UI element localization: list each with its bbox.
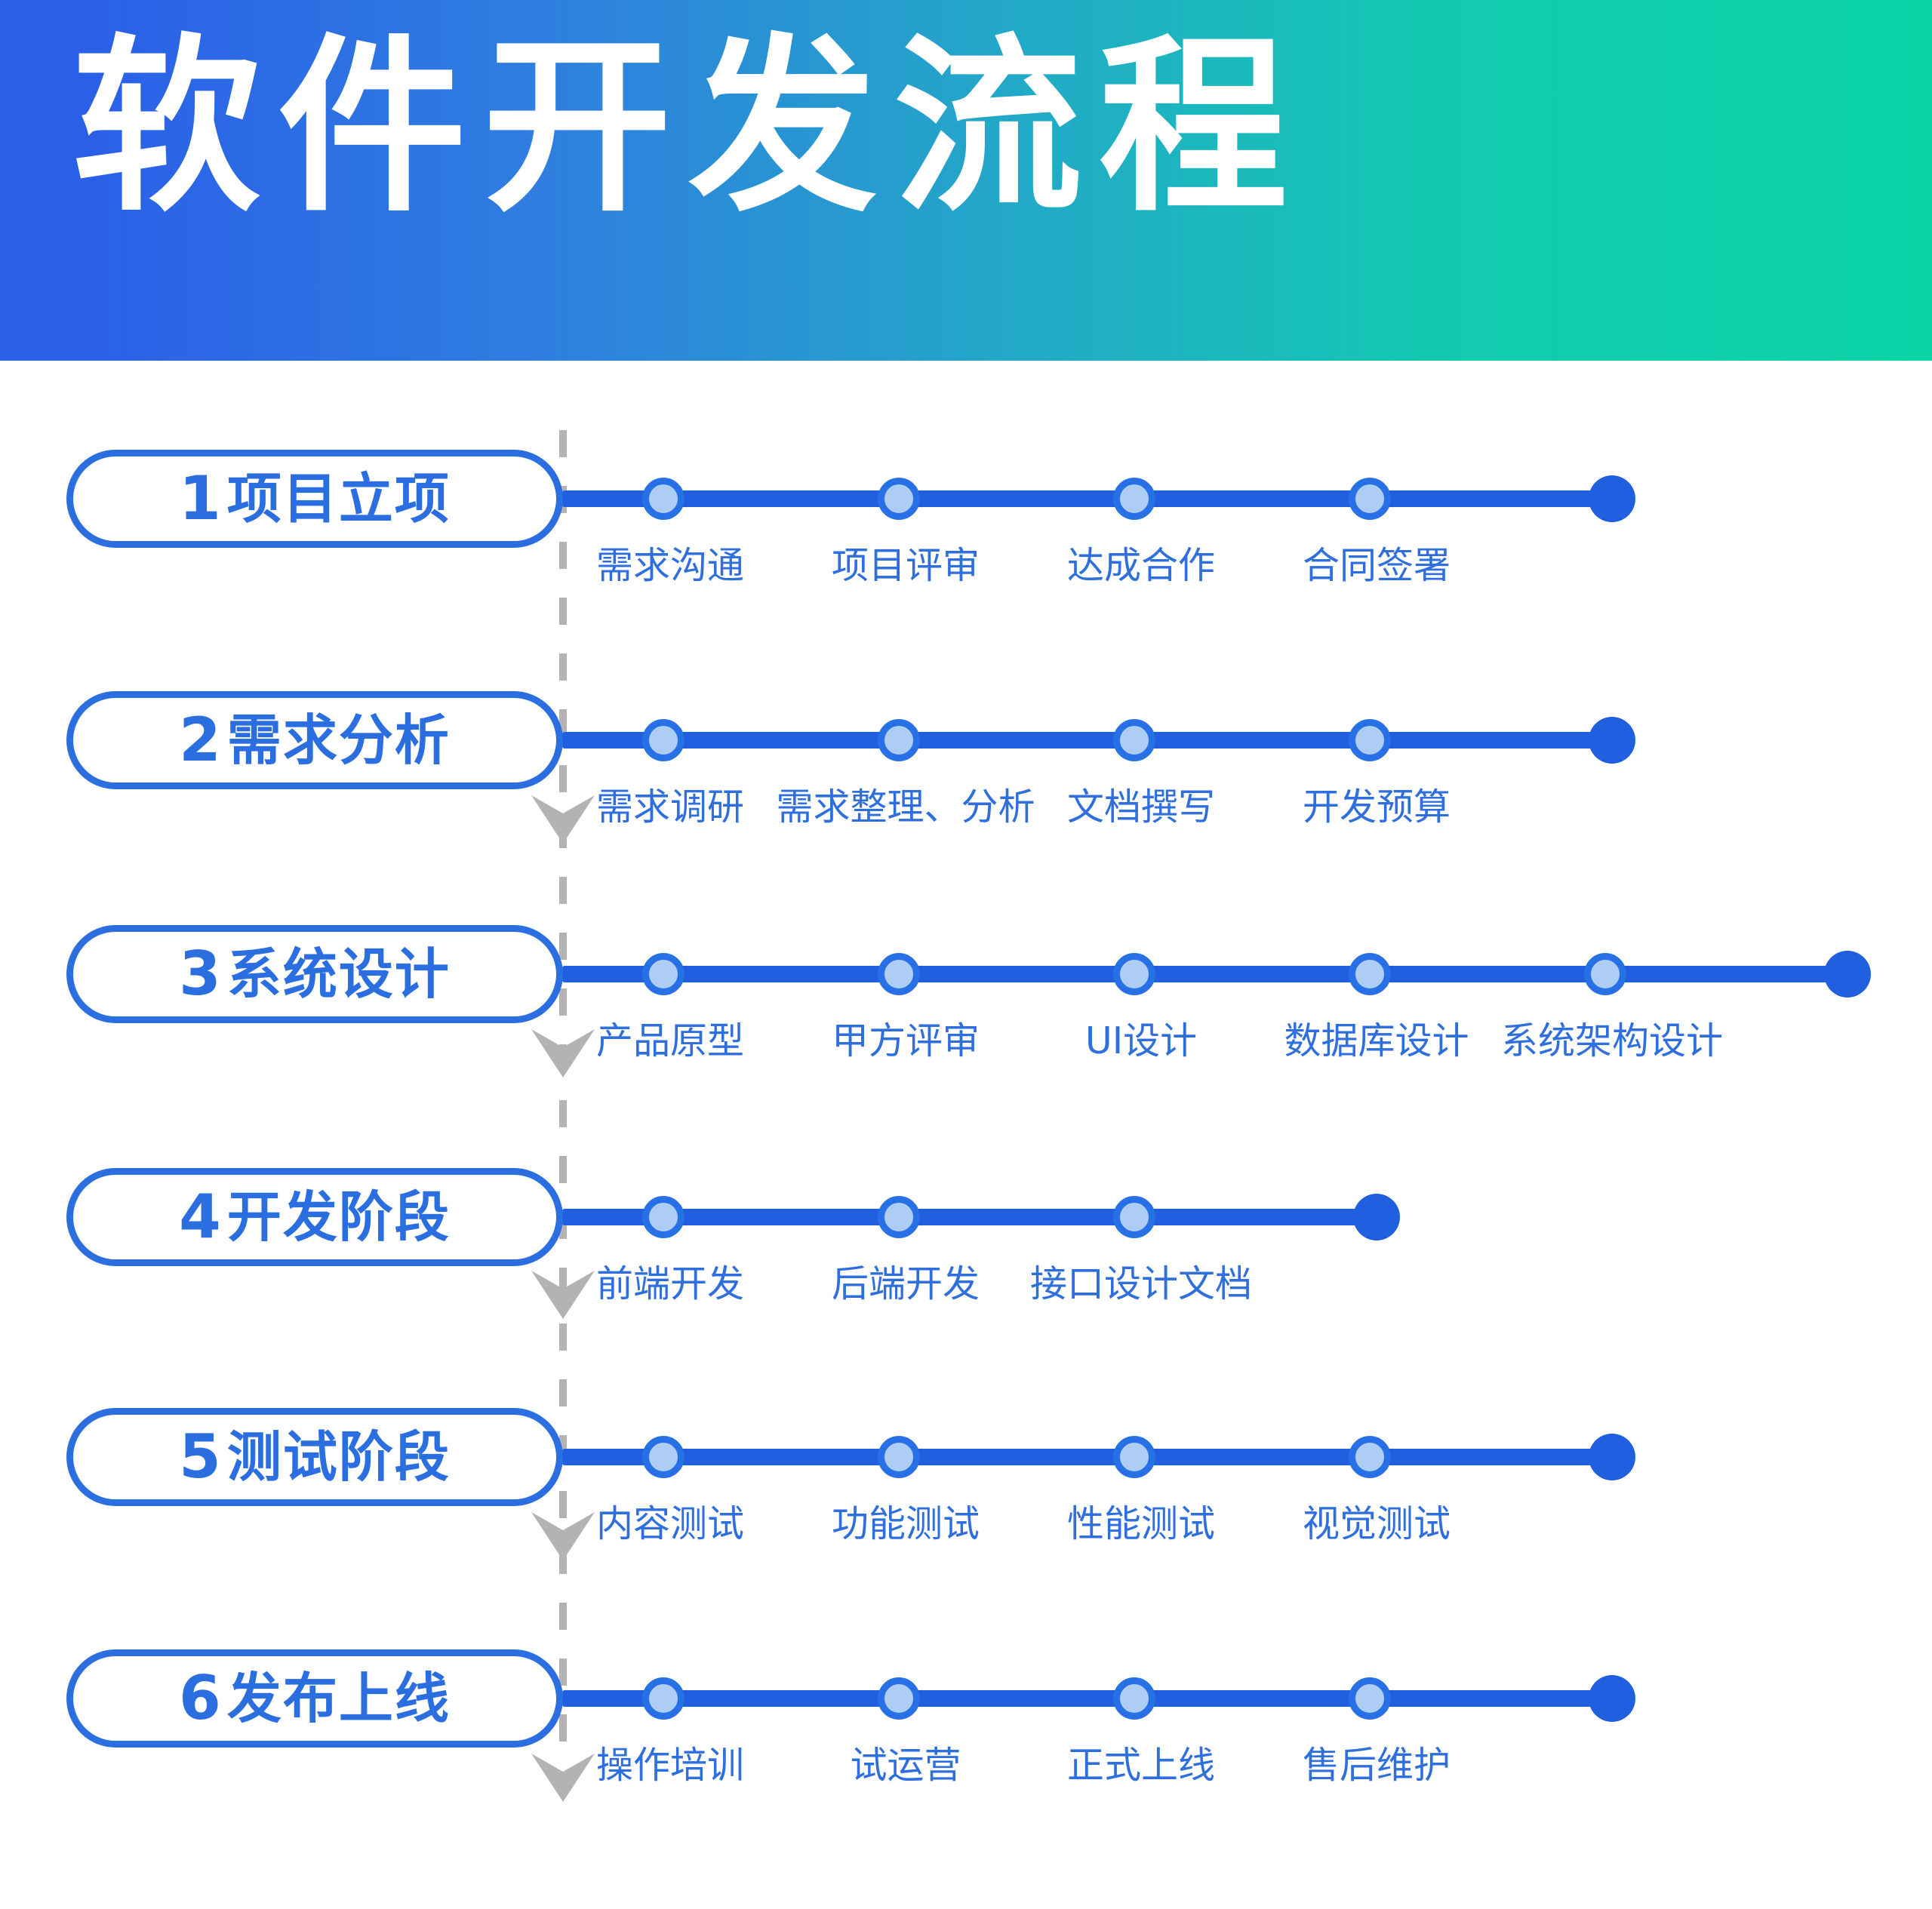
step-node[interactable] <box>878 1196 920 1238</box>
stage-pill-4[interactable]: 4开发阶段 <box>66 1168 563 1266</box>
stage-label: 系统设计 <box>227 947 451 1001</box>
step-label: 视觉测试 <box>1303 1494 1451 1548</box>
step-node[interactable] <box>642 1677 685 1720</box>
step-node[interactable] <box>1349 1677 1391 1720</box>
step-node[interactable] <box>1113 953 1155 995</box>
step-label: 产品原型 <box>596 1011 744 1065</box>
stage-number: 6 <box>179 1668 221 1729</box>
stage-pill-1[interactable]: 1项目立项 <box>66 450 563 548</box>
step-label: 项目评审 <box>832 536 980 589</box>
step-node[interactable] <box>1349 478 1391 520</box>
step-label: 文档撰写 <box>1067 777 1215 831</box>
stage-pill-6[interactable]: 6发布上线 <box>66 1649 563 1748</box>
stage-row: 6发布上线操作培训试运营正式上线售后维护 <box>0 1630 1932 1781</box>
step-label: 需求整理、分析 <box>776 777 1035 831</box>
stage-label: 项目立项 <box>227 472 451 526</box>
step-node[interactable] <box>1113 1677 1155 1720</box>
step-node[interactable] <box>1113 1196 1155 1238</box>
step-node[interactable] <box>1349 719 1391 761</box>
stage-row: 2需求分析需求调研需求整理、分析文档撰写开发预算 <box>0 672 1932 822</box>
step-label: 后端开发 <box>832 1254 980 1308</box>
stage-label: 开发阶段 <box>227 1190 451 1244</box>
stage-label: 测试阶段 <box>227 1430 451 1484</box>
flow-diagram: 1项目立项需求沟通项目评审达成合作合同签署2需求分析需求调研需求整理、分析文档撰… <box>0 361 1932 1909</box>
step-node[interactable] <box>878 1677 920 1720</box>
step-label: 需求沟通 <box>596 536 744 589</box>
stage-row: 1项目立项需求沟通项目评审达成合作合同签署 <box>0 430 1932 581</box>
step-label: 数据库设计 <box>1284 1011 1469 1065</box>
header-banner: 软件开发流程 <box>0 0 1932 361</box>
step-label: 前端开发 <box>596 1254 744 1308</box>
step-node[interactable] <box>1584 953 1626 995</box>
step-node[interactable] <box>1113 478 1155 520</box>
stage-track <box>562 732 1612 749</box>
stage-number: 2 <box>179 710 221 770</box>
step-node[interactable] <box>1113 1436 1155 1478</box>
step-node[interactable] <box>1349 953 1391 995</box>
step-label: 合同签署 <box>1303 536 1451 589</box>
step-label: 开发预算 <box>1303 777 1451 831</box>
step-label: 系统架构设计 <box>1501 1011 1723 1065</box>
step-node[interactable] <box>1113 719 1155 761</box>
stage-number: 4 <box>179 1187 221 1247</box>
step-node[interactable] <box>642 1436 685 1478</box>
stage-label: 需求分析 <box>227 713 451 767</box>
stage-row: 3系统设计产品原型甲方评审UI设计数据库设计系统架构设计 <box>0 905 1932 1056</box>
step-label: 接口设计文档 <box>1030 1254 1252 1308</box>
step-label: 正式上线 <box>1067 1735 1215 1789</box>
track-end-cap <box>1589 717 1635 764</box>
stage-number: 1 <box>179 469 221 529</box>
track-end-cap <box>1589 1434 1635 1480</box>
stage-number: 5 <box>179 1427 221 1487</box>
stage-track <box>562 1449 1612 1465</box>
stage-track <box>562 966 1847 982</box>
track-end-cap <box>1353 1194 1400 1240</box>
stage-row: 4开发阶段前端开发后端开发接口设计文档 <box>0 1148 1932 1299</box>
stage-row: 5测试阶段内容测试功能测试性能测试视觉测试 <box>0 1388 1932 1539</box>
step-label: 试运营 <box>850 1735 961 1789</box>
step-label: 甲方评审 <box>832 1011 980 1065</box>
step-node[interactable] <box>878 953 920 995</box>
step-label: 达成合作 <box>1067 536 1215 589</box>
stage-pill-2[interactable]: 2需求分析 <box>66 691 563 789</box>
stage-track <box>562 1690 1612 1707</box>
track-end-cap <box>1589 1675 1635 1722</box>
step-node[interactable] <box>878 1436 920 1478</box>
page-title: 软件开发流程 <box>72 33 1304 222</box>
track-end-cap <box>1824 951 1871 998</box>
stage-label: 发布上线 <box>227 1671 451 1726</box>
stage-pill-5[interactable]: 5测试阶段 <box>66 1408 563 1506</box>
step-label: 操作培训 <box>596 1735 744 1789</box>
step-label: 性能测试 <box>1067 1494 1215 1548</box>
step-label: 售后维护 <box>1303 1735 1451 1789</box>
step-label: UI设计 <box>1085 1011 1197 1065</box>
step-node[interactable] <box>1349 1436 1391 1478</box>
step-label: 需求调研 <box>596 777 744 831</box>
step-node[interactable] <box>878 478 920 520</box>
step-label: 功能测试 <box>832 1494 980 1548</box>
stage-number: 3 <box>179 944 221 1004</box>
stage-pill-3[interactable]: 3系统设计 <box>66 925 563 1023</box>
step-node[interactable] <box>642 1196 685 1238</box>
step-node[interactable] <box>642 719 685 761</box>
step-node[interactable] <box>878 719 920 761</box>
track-end-cap <box>1589 475 1635 522</box>
step-label: 内容测试 <box>596 1494 744 1548</box>
stage-track <box>562 490 1612 507</box>
step-node[interactable] <box>642 478 685 520</box>
step-node[interactable] <box>642 953 685 995</box>
